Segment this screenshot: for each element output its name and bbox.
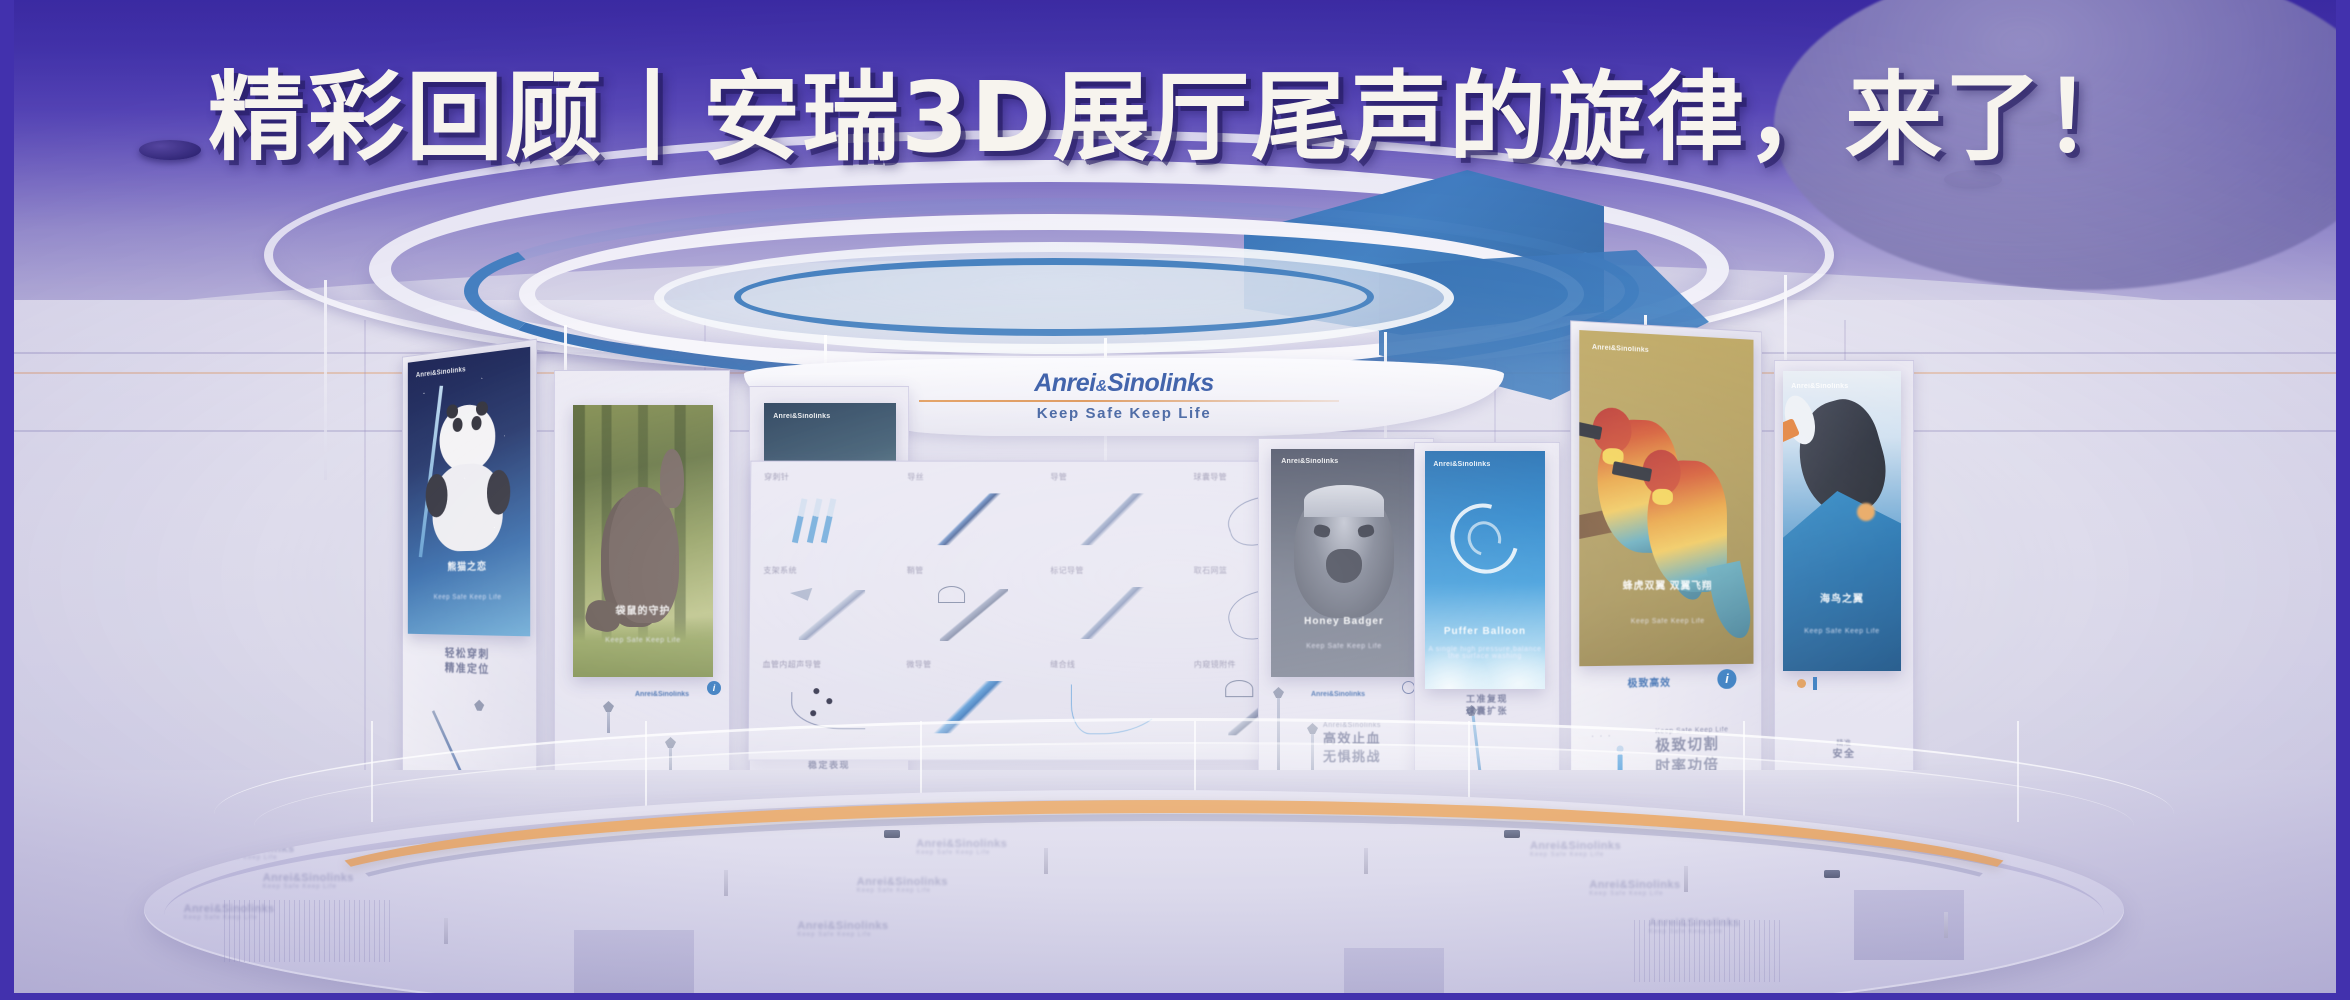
product-cell[interactable]: 穿刺针 xyxy=(760,470,904,564)
info-badge-icon: i xyxy=(707,681,721,695)
floor-watermark: Anrei&SinolinksKeep Safe Keep Life xyxy=(203,843,294,861)
caption-line-1: 工准复现 xyxy=(1415,693,1559,705)
poster-subtitle: Keep Safe Keep Life xyxy=(1579,618,1753,626)
poster-blue-swirl[interactable]: Anrei&Sinolinks Puffer Balloon A single … xyxy=(1425,451,1545,689)
product-art xyxy=(778,490,887,552)
panda-head xyxy=(439,402,495,474)
badger-eye-right xyxy=(1357,524,1375,539)
sheath-icon xyxy=(940,589,1008,641)
sun-graphic xyxy=(1857,503,1875,521)
poster-title: Puffer Balloon xyxy=(1425,626,1545,637)
product-art xyxy=(777,584,887,646)
rail-post xyxy=(444,918,448,944)
product-label: 标记导管 xyxy=(1050,565,1084,576)
poster-brand-label: Anrei&Sinolinks xyxy=(1791,383,1848,390)
swirl-graphic xyxy=(1438,491,1532,586)
panda-body xyxy=(432,461,502,552)
brand-mini-label: 极致高效 xyxy=(1628,678,1671,690)
rail-post xyxy=(1944,912,1948,938)
badger-eye-left xyxy=(1313,524,1331,539)
panda-illustration xyxy=(424,401,512,552)
poster-badger[interactable]: Anrei&Sinolinks Honey Badger Keep Safe K… xyxy=(1271,449,1417,677)
badger-illustration xyxy=(1294,485,1393,617)
panda-arm-right xyxy=(487,469,511,515)
product-cell[interactable]: 标记导管 xyxy=(1047,563,1191,657)
rail-clamp xyxy=(884,830,900,838)
product-cell[interactable]: 导丝 xyxy=(904,470,1048,564)
badger-snout xyxy=(1326,549,1362,583)
poster-puffin[interactable]: Anrei&Sinolinks 海鸟之翼 Keep Safe Keep Life xyxy=(1783,371,1901,671)
poster-kangaroo[interactable]: 袋鼠的守护 Keep Safe Keep Life xyxy=(573,405,713,677)
poster-brand-label: Anrei&Sinolinks xyxy=(1433,461,1490,468)
product-label: 球囊导管 xyxy=(1194,472,1228,483)
poster-panda[interactable]: Anrei&Sinolinks 熊猫之恋 xyxy=(408,347,530,637)
instrument-tip-icon xyxy=(1273,687,1284,698)
bee-eater-bird-front xyxy=(1647,460,1726,593)
product-label: 微导管 xyxy=(906,659,931,670)
panda-pole xyxy=(419,386,443,557)
panda-eye-right xyxy=(472,416,482,430)
product-art xyxy=(921,490,1030,552)
product-label: 血管内超声导管 xyxy=(762,659,821,670)
rail-post xyxy=(1364,848,1368,874)
product-label: 缝合线 xyxy=(1050,659,1075,670)
banner-title: 精彩回顾丨安瑞3D展厅尾声的旋律，来了！ xyxy=(0,38,2350,179)
panda-arm-left xyxy=(426,474,448,518)
orange-curved-rail xyxy=(284,800,2064,994)
product-label: 导管 xyxy=(1050,472,1067,483)
rail-post xyxy=(724,870,728,896)
rail-clamp xyxy=(1504,830,1520,838)
product-label: 穿刺针 xyxy=(764,472,789,483)
pedestal-caption-panda: 轻松穿刺 精准定位 xyxy=(406,645,532,679)
poster-title: 熊猫之恋 xyxy=(408,557,530,574)
poster-brand-label: Anrei&Sinolinks xyxy=(773,413,830,420)
rail-clamp xyxy=(1824,870,1840,878)
banner-image: Anrei&Sinolinks Keep Safe Keep Life Anre… xyxy=(0,0,2350,1000)
poster-title: 袋鼠的守护 xyxy=(573,602,713,617)
brand-mini-label: Anrei&Sinolinks xyxy=(635,691,689,698)
product-label: 取石网篮 xyxy=(1194,565,1228,576)
caption-line-2: 球囊扩张 xyxy=(1415,705,1559,717)
rail-post xyxy=(1044,848,1048,874)
product-label: 支架系统 xyxy=(763,565,797,576)
panda-ear-left xyxy=(447,404,458,418)
board-brand-row-puffin xyxy=(1797,677,1877,691)
poster-bee-eaters[interactable]: Anrei&Sinolinks xyxy=(1579,330,1753,666)
pedestal-brand-row: 极致高效 i xyxy=(1628,672,1744,694)
product-cell[interactable]: 支架系统 xyxy=(760,563,904,657)
poster-title: 海鸟之翼 xyxy=(1783,590,1901,605)
product-label: 导丝 xyxy=(907,472,924,483)
instrument-tip-icon xyxy=(474,699,484,711)
poster-subtitle: A single high pressure,balance the surfa… xyxy=(1425,646,1545,660)
panda-eye-left xyxy=(453,418,462,432)
product-label: 内窥镜附件 xyxy=(1194,659,1236,670)
poster-subtitle: Keep Safe Keep Life xyxy=(573,637,713,644)
orange-dot-icon xyxy=(1797,679,1806,688)
blue-bar-icon xyxy=(1813,677,1817,690)
badger-head-stripe xyxy=(1304,485,1383,517)
trio-needles-icon xyxy=(793,499,859,543)
product-cell[interactable]: 鞘管 xyxy=(903,563,1047,657)
info-badge-icon: i xyxy=(1717,669,1736,689)
poster-title: 蜂虎双翼 双翼飞翔 xyxy=(1579,577,1753,593)
rail-bar-grey xyxy=(306,814,2042,994)
caption-line-2: 精准定位 xyxy=(406,660,532,680)
poster-brand-label: Anrei&Sinolinks xyxy=(1592,344,1649,354)
guidewire-icon xyxy=(930,494,1011,546)
poster-subtitle: Keep Safe Keep Life xyxy=(1783,628,1901,635)
ceiling-ring-core-blue xyxy=(734,258,1374,336)
wave-graphic xyxy=(1783,491,1901,671)
panda-ear-right xyxy=(476,401,487,416)
poster-subtitle: Keep Safe Keep Life xyxy=(408,594,530,601)
marker-catheter-icon xyxy=(1073,587,1154,639)
bird-throat xyxy=(1652,489,1673,505)
board-caption-blue: 工准复现 球囊扩张 xyxy=(1415,693,1559,717)
instrument-tip-icon xyxy=(603,701,614,712)
product-label: 鞘管 xyxy=(907,565,924,576)
instrument-shaft xyxy=(607,711,610,733)
product-art xyxy=(1064,490,1173,552)
product-art xyxy=(921,584,1030,646)
board-brand-row: Anrei&Sinolinks i xyxy=(635,683,715,697)
product-art xyxy=(1064,584,1173,646)
poster-title: Honey Badger xyxy=(1271,616,1417,627)
stent-delivery-icon xyxy=(799,590,865,640)
poster-brand-label: Anrei&Sinolinks xyxy=(1281,458,1338,465)
poster-brand-label: Anrei&Sinolinks xyxy=(416,366,466,379)
product-cell[interactable]: 导管 xyxy=(1047,470,1190,564)
poster-subtitle: Keep Safe Keep Life xyxy=(1271,643,1417,650)
catheter-icon xyxy=(1073,494,1154,546)
rail-post xyxy=(1684,866,1688,892)
bird-tail xyxy=(1707,561,1754,642)
